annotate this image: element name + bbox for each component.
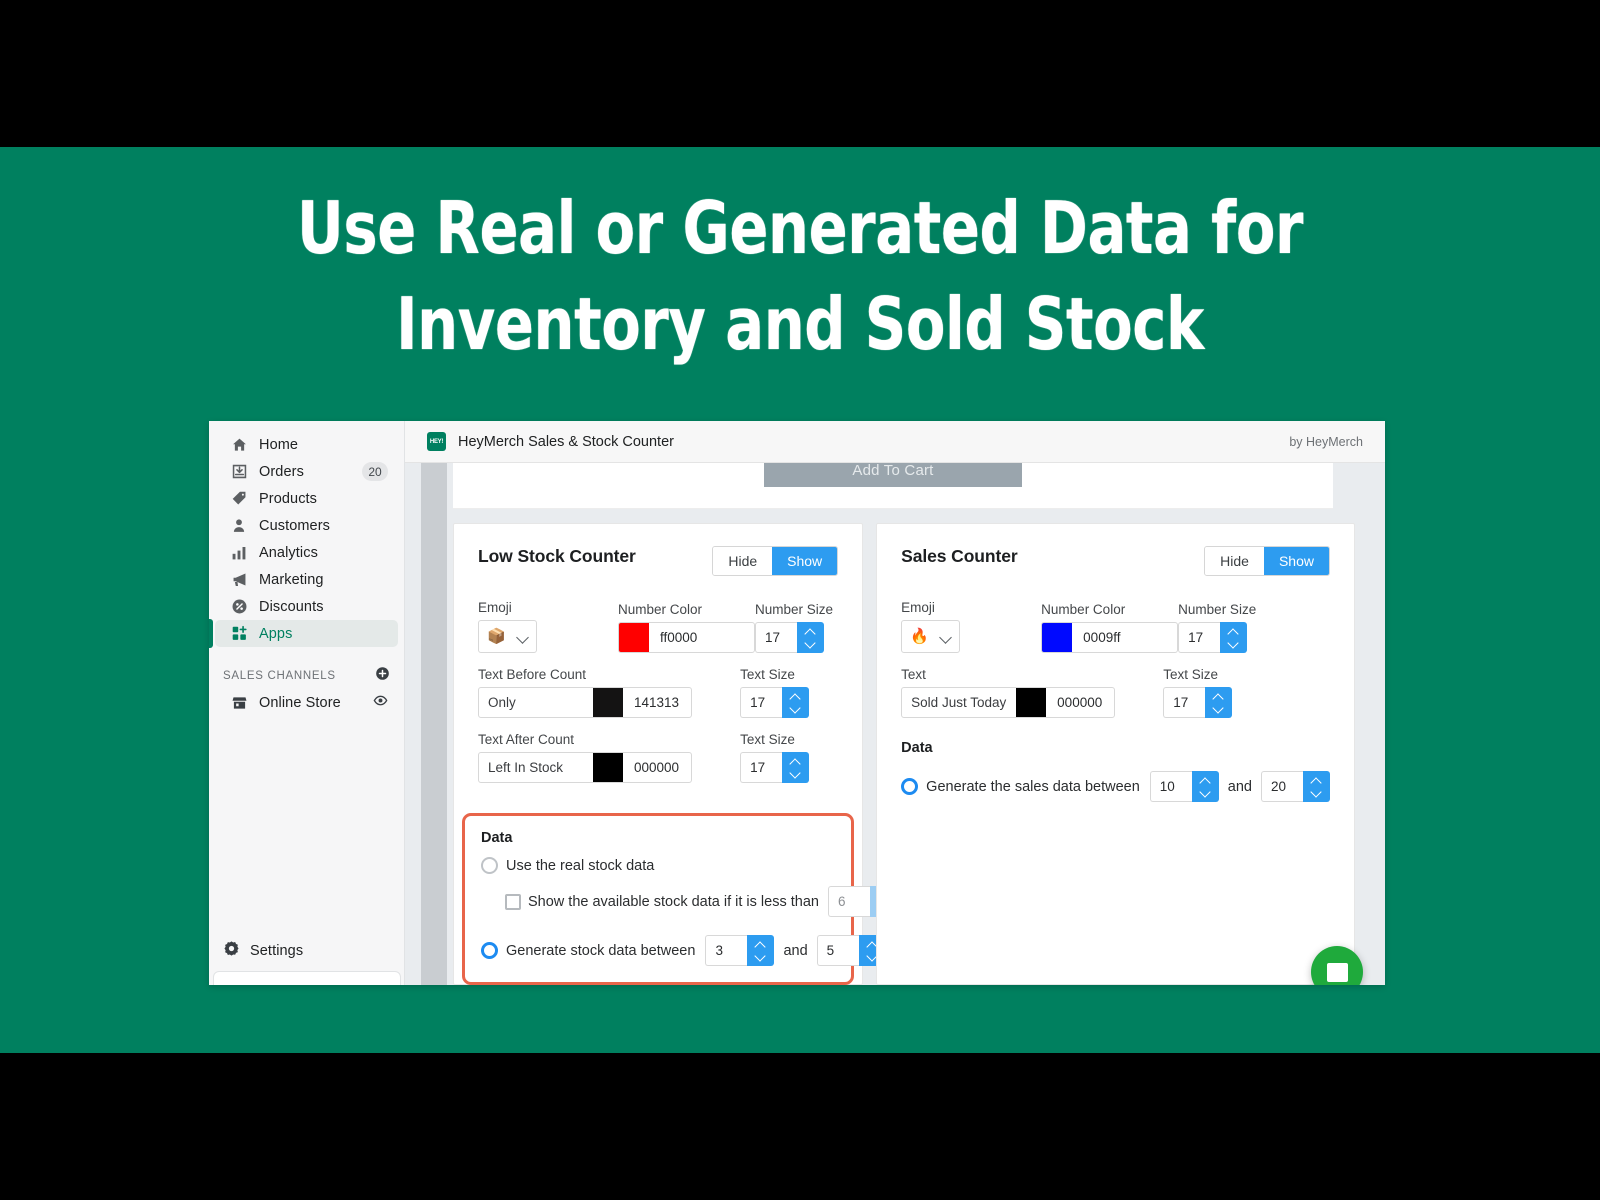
text-size-value[interactable]: 17	[740, 687, 782, 718]
sales-generate-max-stepper[interactable]: 20	[1261, 771, 1330, 802]
chevron-down-icon[interactable]	[790, 705, 801, 711]
sales-counter-panel: Sales Counter Hide Show Emoji 🔥	[876, 523, 1355, 985]
sidebar: Home Orders 20 Products	[209, 421, 405, 985]
sales-show-button[interactable]: Show	[1264, 547, 1329, 575]
color-swatch[interactable]	[1016, 688, 1046, 717]
sidebar-item-online-store[interactable]: Online Store	[215, 689, 398, 716]
text-before-group[interactable]: Only 141313	[478, 687, 692, 718]
sidebar-bottom-panel-stub	[213, 971, 401, 985]
bar-chart-icon	[229, 544, 249, 562]
low-stock-emoji-field: Emoji 📦	[478, 600, 618, 653]
gear-icon	[223, 940, 240, 962]
sales-channels-title: SALES CHANNELS	[223, 670, 375, 682]
stepper-arrows[interactable]	[1220, 622, 1247, 653]
low-stock-text-before-row: Text Before Count Only 141313 Text Size	[478, 667, 838, 718]
stepper-arrows[interactable]	[782, 687, 809, 718]
number-color-input[interactable]: ff0000	[618, 622, 755, 653]
color-swatch[interactable]	[593, 688, 623, 717]
text-before-count-label: Text Before Count	[478, 667, 692, 682]
sidebar-item-marketing[interactable]: Marketing	[215, 566, 398, 593]
orders-icon	[229, 463, 249, 481]
sales-text-size-stepper[interactable]: 17	[1163, 687, 1232, 718]
text-before-count-field: Text Before Count Only 141313	[478, 667, 692, 718]
sales-number-row: Emoji 🔥 Number Color 0009ff	[901, 600, 1330, 653]
range-and-label: and	[783, 943, 807, 959]
text-after-group[interactable]: Left In Stock 000000	[478, 752, 692, 783]
panel-title: Sales Counter	[901, 546, 1017, 567]
color-swatch[interactable]	[619, 623, 649, 652]
generate-sales-data-option[interactable]: Generate the sales data between 10 and	[901, 771, 1330, 802]
sidebar-item-orders[interactable]: Orders 20	[215, 458, 398, 485]
data-section-title: Data	[481, 830, 835, 846]
sidebar-item-label: Discounts	[259, 599, 388, 615]
storefront-preview-card: Add To Cart	[453, 463, 1333, 509]
screenshot-stage: Use Real or Generated Data for Inventory…	[0, 0, 1600, 1200]
number-color-label: Number Color	[1041, 602, 1178, 617]
chevron-down-icon[interactable]	[1311, 789, 1322, 795]
heymerch-logo-icon: HEY!	[427, 432, 446, 451]
chat-bubble-icon	[1327, 963, 1348, 982]
sales-text-group[interactable]: Sold Just Today 000000	[901, 687, 1115, 718]
generate-stock-data-option[interactable]: Generate stock data between 3 and	[481, 935, 835, 966]
range-and-label: and	[1228, 779, 1252, 795]
color-hex-value: 000000	[623, 760, 691, 775]
sidebar-item-label: Orders	[259, 464, 362, 480]
sidebar-item-customers[interactable]: Customers	[215, 512, 398, 539]
generate-max-value[interactable]: 5	[817, 935, 859, 966]
app-main: HEY! HeyMerch Sales & Stock Counter by H…	[405, 421, 1385, 985]
chevron-up-icon[interactable]	[755, 942, 766, 948]
sidebar-item-settings[interactable]: Settings	[209, 937, 405, 965]
chevron-up-icon[interactable]	[1213, 694, 1224, 700]
text-size-label: Text Size	[1163, 667, 1232, 682]
color-hex-value: 000000	[1046, 695, 1114, 710]
sales-channels-section-header: SALES CHANNELS	[209, 663, 404, 689]
stepper-arrows[interactable]	[782, 752, 809, 783]
low-stock-visibility-toggle[interactable]: Hide Show	[712, 546, 838, 576]
stepper-arrows[interactable]	[1192, 771, 1219, 802]
checkbox-show-available-stock[interactable]	[505, 894, 521, 910]
text-after-input[interactable]: Left In Stock	[479, 753, 593, 782]
low-stock-panel-header: Low Stock Counter Hide Show	[478, 546, 838, 586]
emoji-label: Emoji	[901, 600, 1041, 615]
text-size-label: Text Size	[740, 667, 809, 682]
apps-icon	[229, 625, 249, 643]
number-size-value[interactable]: 17	[1178, 622, 1220, 653]
sales-hide-button[interactable]: Hide	[1205, 547, 1264, 575]
sidebar-item-apps[interactable]: Apps	[215, 620, 398, 647]
app-window: Home Orders 20 Products	[209, 421, 1385, 985]
low-stock-hide-button[interactable]: Hide	[713, 547, 772, 575]
generate-stock-data-label: Generate stock data between	[506, 943, 695, 959]
chevron-down-icon[interactable]	[1228, 640, 1239, 646]
color-hex-value: ff0000	[649, 630, 709, 645]
sidebar-item-label: Products	[259, 491, 388, 507]
stepper-arrows[interactable]	[1205, 687, 1232, 718]
orders-count-badge: 20	[362, 462, 388, 481]
show-available-stock-label: Show the available stock data if it is l…	[528, 894, 819, 910]
chevron-up-icon[interactable]	[1311, 778, 1322, 784]
sidebar-item-home[interactable]: Home	[215, 431, 398, 458]
emoji-select[interactable]: 🔥	[901, 620, 960, 653]
text-before-input[interactable]: Only	[479, 688, 593, 717]
sidebar-item-label: Apps	[259, 626, 388, 642]
tag-icon	[229, 490, 249, 508]
chevron-down-icon	[941, 633, 952, 640]
sidebar-item-analytics[interactable]: Analytics	[215, 539, 398, 566]
chevron-up-icon[interactable]	[1200, 778, 1211, 784]
eye-icon[interactable]	[373, 693, 388, 713]
sidebar-item-label: Analytics	[259, 545, 388, 561]
use-real-stock-data-option[interactable]: Use the real stock data	[481, 857, 835, 874]
color-swatch[interactable]	[1042, 623, 1072, 652]
chat-widget-button[interactable]	[1311, 946, 1363, 985]
sidebar-item-label: Marketing	[259, 572, 388, 588]
text-after-size-stepper[interactable]: 17	[740, 752, 809, 783]
sales-text-input[interactable]: Sold Just Today	[902, 688, 1016, 717]
number-color-input[interactable]: 0009ff	[1041, 622, 1178, 653]
number-size-label: Number Size	[755, 602, 833, 617]
data-section-title: Data	[901, 740, 1330, 756]
sidebar-item-label: Home	[259, 437, 388, 453]
low-stock-number-size-field: Number Size 17	[755, 602, 833, 653]
headline-line-1: Use Real or Generated Data for	[160, 180, 1440, 276]
text-size-value[interactable]: 17	[740, 752, 782, 783]
panel-title: Low Stock Counter	[478, 546, 636, 567]
app-title: HeyMerch Sales & Stock Counter	[458, 434, 674, 450]
chevron-down-icon	[518, 633, 529, 640]
low-stock-number-color-field: Number Color ff0000	[618, 602, 755, 653]
sales-text-row: Text Sold Just Today 000000 Text Size	[901, 667, 1330, 718]
stepper-arrows[interactable]	[797, 622, 824, 653]
hero-headline: Use Real or Generated Data for Inventory…	[160, 180, 1440, 372]
headline-line-2: Inventory and Sold Stock	[160, 276, 1440, 372]
sidebar-item-products[interactable]: Products	[215, 485, 398, 512]
radio-generate-sales-data[interactable]	[901, 778, 918, 795]
show-available-stock-row: Show the available stock data if it is l…	[481, 886, 835, 917]
generate-sales-data-label: Generate the sales data between	[926, 779, 1140, 795]
sidebar-item-label: Online Store	[259, 695, 373, 711]
sales-panel-header: Sales Counter Hide Show	[901, 546, 1330, 586]
text-size-value[interactable]: 17	[1163, 687, 1205, 718]
number-size-value[interactable]: 17	[755, 622, 797, 653]
text-before-size-field: Text Size 17	[740, 667, 809, 718]
generate-min-value[interactable]: 3	[705, 935, 747, 966]
sales-data-section: Data Generate the sales data between 10	[901, 740, 1330, 802]
low-stock-data-section-highlighted: Data Use the real stock data Show the av…	[462, 813, 854, 985]
text-after-count-field: Text After Count Left In Stock 000000	[478, 732, 692, 783]
discount-icon	[229, 598, 249, 616]
sidebar-item-label: Settings	[250, 943, 391, 959]
text-size-label: Text Size	[740, 732, 809, 747]
text-before-size-stepper[interactable]: 17	[740, 687, 809, 718]
stepper-arrows[interactable]	[747, 935, 774, 966]
use-real-stock-data-label: Use the real stock data	[506, 858, 654, 874]
low-stock-text-after-row: Text After Count Left In Stock 000000 Te…	[478, 732, 838, 783]
threshold-value[interactable]: 6	[828, 886, 870, 917]
chevron-down-icon[interactable]	[1200, 789, 1211, 795]
sidebar-item-discounts[interactable]: Discounts	[215, 593, 398, 620]
text-after-count-label: Text After Count	[478, 732, 692, 747]
stepper-arrows[interactable]	[1303, 771, 1330, 802]
text-label: Text	[901, 667, 1115, 682]
text-after-size-field: Text Size 17	[740, 732, 809, 783]
radio-use-real-stock-data[interactable]	[481, 857, 498, 874]
add-to-cart-button[interactable]: Add To Cart	[764, 463, 1022, 487]
sidebar-item-label: Customers	[259, 518, 388, 534]
color-hex-value: 0009ff	[1072, 630, 1132, 645]
emoji-value: 📦	[487, 629, 506, 644]
sales-number-color-field: Number Color 0009ff	[1041, 602, 1178, 653]
app-publisher-label: by HeyMerch	[1289, 435, 1363, 449]
chevron-up-icon[interactable]	[805, 629, 816, 635]
low-stock-show-button[interactable]: Show	[772, 547, 837, 575]
chevron-down-icon[interactable]	[790, 770, 801, 776]
radio-generate-stock-data[interactable]	[481, 942, 498, 959]
generate-min-stepper[interactable]: 3	[705, 935, 774, 966]
generate-min-value[interactable]: 10	[1150, 771, 1192, 802]
number-color-label: Number Color	[618, 602, 755, 617]
app-header: HEY! HeyMerch Sales & Stock Counter by H…	[405, 421, 1385, 463]
megaphone-icon	[229, 571, 249, 589]
chevron-down-icon[interactable]	[755, 953, 766, 959]
chevron-up-icon[interactable]	[790, 694, 801, 700]
store-icon	[229, 694, 249, 712]
sales-visibility-toggle[interactable]: Hide Show	[1204, 546, 1330, 576]
generate-max-value[interactable]: 20	[1261, 771, 1303, 802]
sales-text-size-field: Text Size 17	[1163, 667, 1232, 718]
chevron-down-icon[interactable]	[1213, 705, 1224, 711]
settings-panels: Low Stock Counter Hide Show Emoji 📦	[453, 523, 1355, 985]
emoji-label: Emoji	[478, 600, 618, 615]
chevron-up-icon[interactable]	[790, 759, 801, 765]
sales-emoji-field: Emoji 🔥	[901, 600, 1041, 653]
sales-generate-min-stepper[interactable]: 10	[1150, 771, 1219, 802]
canvas-left-gutter	[421, 463, 447, 985]
person-icon	[229, 517, 249, 535]
home-icon	[229, 436, 249, 454]
chevron-up-icon[interactable]	[1228, 629, 1239, 635]
number-size-stepper[interactable]: 17	[755, 622, 833, 653]
sidebar-nav-list: Home Orders 20 Products	[209, 421, 404, 647]
app-canvas: Add To Cart Low Stock Counter Hide Show	[405, 463, 1385, 985]
color-swatch[interactable]	[593, 753, 623, 782]
sales-text-field: Text Sold Just Today 000000	[901, 667, 1115, 718]
plus-circle-icon[interactable]	[375, 666, 390, 686]
emoji-select[interactable]: 📦	[478, 620, 537, 653]
number-size-label: Number Size	[1178, 602, 1256, 617]
sales-number-size-field: Number Size 17	[1178, 602, 1256, 653]
low-stock-number-row: Emoji 📦 Number Color ff0000	[478, 600, 838, 653]
low-stock-counter-panel: Low Stock Counter Hide Show Emoji 📦	[453, 523, 863, 985]
color-hex-value: 141313	[623, 695, 691, 710]
emoji-value: 🔥	[910, 629, 929, 644]
chevron-down-icon[interactable]	[805, 640, 816, 646]
number-size-stepper[interactable]: 17	[1178, 622, 1256, 653]
